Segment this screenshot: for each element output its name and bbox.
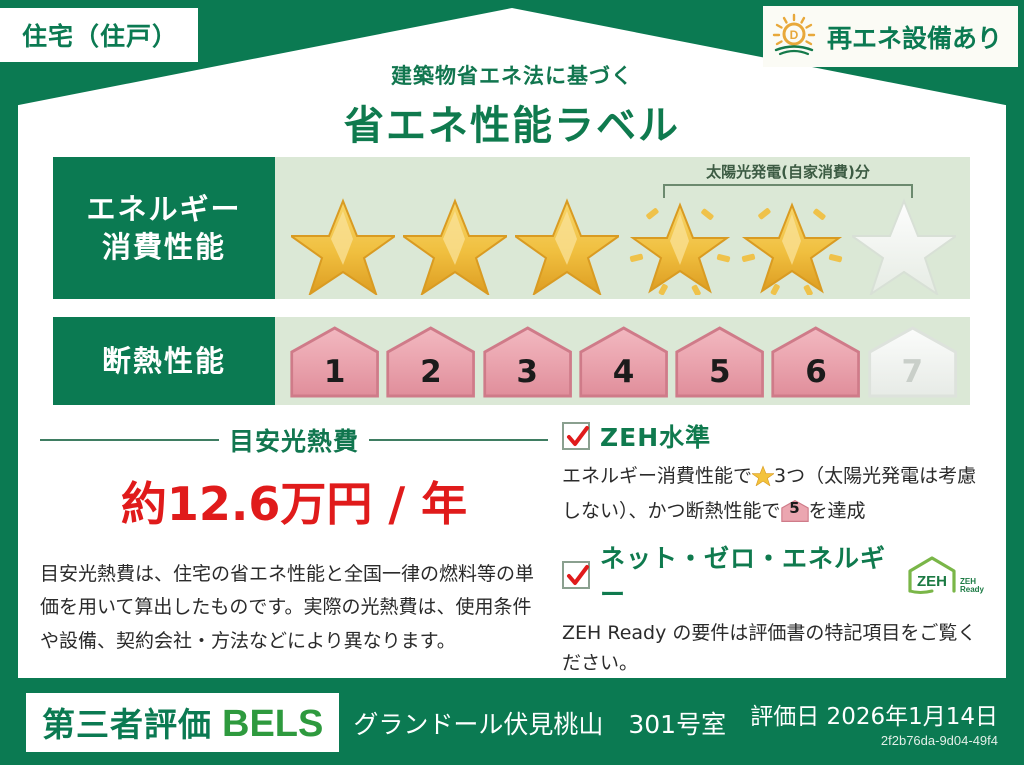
energy-performance-row: エネルギー 消費性能 太陽光発電(自家消費)分 [53, 157, 970, 299]
star-filled-1 [290, 191, 396, 295]
insulation-performance-label: 断熱性能 [53, 317, 275, 405]
zeh-standard-star-count: 3つ（太陽光発電 [774, 465, 919, 487]
insulation-level-1: 1 [289, 326, 380, 398]
energy-label-line2: 消費性能 [102, 228, 226, 266]
evaluation-info: 評価日 2026年1月14日 2f2b76da-9d04-49f4 [750, 697, 998, 748]
check-icon [566, 425, 590, 449]
utility-cost-heading-label: 目安光熱費 [229, 422, 359, 458]
zeh-standard-body: エネルギー消費性能で 3つ（太陽光発電は考慮しない）、かつ断熱性能で 5 を達成 [562, 461, 984, 527]
insulation-level-7: 7 [867, 326, 958, 398]
zeh-standard-checkbox[interactable] [562, 422, 590, 450]
star-filled-3 [514, 191, 620, 295]
building-type-tag: 住宅（住戸） [0, 8, 198, 62]
rule-left [40, 439, 219, 441]
zeh-house-icon: ZEH [906, 555, 958, 595]
evaluation-id: 2f2b76da-9d04-49f4 [750, 733, 998, 748]
utility-cost-block: 目安光熱費 約12.6万円 / 年 目安光熱費は、住宅の省エネ性能と全国一律の燃… [40, 418, 548, 691]
bels-en-label: BELS [222, 703, 323, 746]
star-filled-solar-4 [627, 191, 733, 295]
footer-bar: 第三者評価 BELS グランドール伏見桃山 301号室 評価日 2026年1月1… [0, 680, 1024, 765]
solar-annotation-label: 太陽光発電(自家消費)分 [663, 161, 913, 182]
net-zero-energy-header: ネット・ゼロ・エネルギー ZEH ZEH Ready [562, 539, 984, 611]
insulation-level-number: 5 [674, 354, 765, 390]
building-name: グランドール伏見桃山 301号室 [353, 705, 726, 741]
insulation-level-5: 5 [674, 326, 765, 398]
bels-jp-label: 第三者評価 [42, 698, 212, 746]
solar-sun-icon: D [771, 12, 819, 61]
zeh-standard-header: ZEH水準 [562, 418, 984, 454]
certification-block: ZEH水準 エネルギー消費性能で 3つ（太陽光発電は考慮しない）、かつ断熱性能で… [548, 418, 984, 691]
utility-cost-heading: 目安光熱費 [40, 422, 548, 458]
star-filled-solar-5 [739, 191, 845, 295]
insulation-performance-row: 断熱性能 1 [53, 317, 970, 405]
title-main: 省エネ性能ラベル [0, 93, 1024, 151]
insulation-level-4: 4 [578, 326, 669, 398]
zeh-ready-sublabel: ZEH Ready [960, 578, 984, 595]
details-section: 目安光熱費 約12.6万円 / 年 目安光熱費は、住宅の省エネ性能と全国一律の燃… [40, 418, 984, 691]
check-icon [566, 564, 590, 588]
inline-house-icon: 5 [781, 500, 809, 522]
rule-right [369, 439, 548, 441]
star-empty-6 [851, 191, 957, 295]
insulation-level-number: 3 [482, 354, 573, 390]
svg-text:ZEH: ZEH [917, 573, 947, 590]
energy-label-line1: エネルギー [86, 190, 241, 228]
bels-logo: 第三者評価 BELS [26, 693, 339, 752]
evaluation-date: 評価日 2026年1月14日 [750, 697, 998, 731]
net-zero-energy-body: ZEH Ready の要件は評価書の特記項目をご覧ください。 [562, 618, 984, 680]
insulation-level-2: 2 [385, 326, 476, 398]
insulation-level-number: 7 [867, 354, 958, 390]
insulation-levels: 1 2 3 4 [289, 325, 958, 399]
zeh-standard-body-part1: エネルギー消費性能で [562, 465, 752, 487]
insulation-level-number: 6 [770, 354, 861, 390]
insulation-level-6: 6 [770, 326, 861, 398]
energy-performance-body: 太陽光発電(自家消費)分 [275, 157, 970, 299]
building-type-label: 住宅（住戸） [22, 22, 178, 51]
insulation-level-3: 3 [482, 326, 573, 398]
utility-cost-note: 目安光熱費は、住宅の省エネ性能と全国一律の燃料等の単価を用いて算出したものです。… [40, 558, 548, 658]
net-zero-energy-block: ネット・ゼロ・エネルギー ZEH ZEH Ready ZEH Ready の要件… [562, 539, 984, 680]
energy-performance-label: エネルギー 消費性能 [53, 157, 275, 299]
ratings-section: エネルギー 消費性能 太陽光発電(自家消費)分 [53, 157, 970, 405]
zeh-standard-body-part3: を達成 [809, 500, 866, 522]
renewable-energy-badge: D 再エネ設備あり [763, 6, 1018, 67]
net-zero-energy-checkbox[interactable] [562, 561, 590, 589]
zeh-standard-title: ZEH水準 [600, 418, 711, 454]
zeh-ready-line2: Ready [960, 586, 984, 594]
star-filled-2 [402, 191, 508, 295]
net-zero-energy-title: ネット・ゼロ・エネルギー [600, 539, 890, 611]
zeh-ready-logo: ZEH ZEH Ready [906, 555, 984, 595]
insulation-level-number: 2 [385, 354, 476, 390]
renewable-energy-label: 再エネ設備あり [827, 19, 1002, 55]
insulation-label-text: 断熱性能 [102, 342, 226, 380]
inline-star-icon [752, 465, 774, 496]
insulation-performance-body: 1 2 3 4 [275, 317, 970, 405]
inline-house-level: 5 [781, 500, 809, 522]
title-block: 建築物省エネ法に基づく 省エネ性能ラベル [0, 60, 1024, 151]
utility-cost-value: 約12.6万円 / 年 [40, 468, 548, 534]
zeh-standard-block: ZEH水準 エネルギー消費性能で 3つ（太陽光発電は考慮しない）、かつ断熱性能で… [562, 418, 984, 527]
svg-text:D: D [790, 28, 799, 42]
insulation-level-number: 1 [289, 354, 380, 390]
insulation-level-number: 4 [578, 354, 669, 390]
star-rating [287, 191, 960, 295]
